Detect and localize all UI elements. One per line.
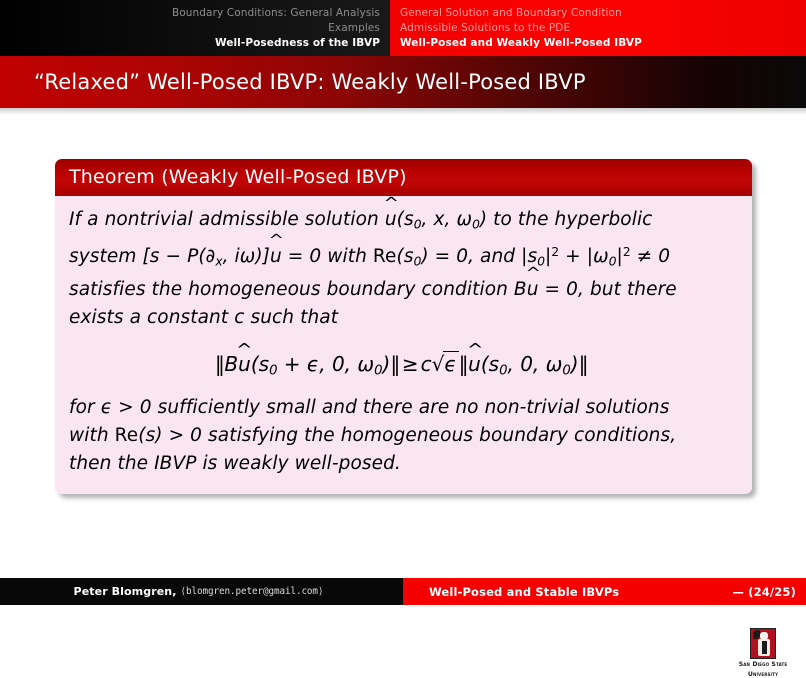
radicand-epsilon: ϵ bbox=[443, 351, 458, 376]
theorem-text-fragment: ) = 0, and | bbox=[421, 246, 527, 267]
theorem-text-fragment: (s) > 0 satisfying the homogeneous bound… bbox=[138, 425, 676, 446]
theorem-line-7: then the IBVP is weakly well-posed. bbox=[69, 450, 734, 478]
s-symbol: s bbox=[404, 246, 414, 267]
nav-section-well-posedness-of-the-ibvp[interactable]: Well-Posedness of the IBVP bbox=[215, 36, 380, 51]
aztec-body-accent-shape bbox=[762, 641, 767, 654]
sdsu-aztec-emblem-icon bbox=[750, 628, 776, 659]
aztec-head-shape bbox=[760, 632, 768, 639]
omega-subscript: 0 bbox=[472, 217, 480, 231]
theorem-text-fragment: = 0 with bbox=[282, 246, 373, 267]
omega-subscript: 0 bbox=[562, 363, 570, 378]
footer-author-email[interactable]: ⟨blomgren.peter@gmail.com⟩ bbox=[177, 586, 324, 597]
theorem-text-fragment: , x, bbox=[422, 209, 457, 230]
footer-author-name: Peter Blomgren, bbox=[74, 585, 177, 598]
equation-fragment: , 0, bbox=[507, 352, 545, 376]
theorem-block: Theorem (Weakly Well-Posed IBVP) If a no… bbox=[55, 159, 752, 494]
theorem-text-fragment: ≠ 0 bbox=[631, 246, 670, 267]
nav-subsection-admissible-solutions[interactable]: Admissible Solutions to the PDE bbox=[400, 21, 570, 36]
footer-subject-block: Well-Posed and Stable IBVPs — (24/25) bbox=[403, 578, 806, 605]
aztec-headdress-shape bbox=[753, 630, 760, 639]
norm-bar-open: ‖ bbox=[215, 352, 225, 376]
theorem-text-fragment: satisfies the homogeneous boundary condi… bbox=[69, 279, 527, 300]
u-hat-symbol: u bbox=[527, 276, 539, 304]
theorem-line-1: If a nontrivial admissible solution u(s0… bbox=[69, 206, 734, 238]
sdsu-logo-line-1: San Diego State bbox=[735, 661, 791, 669]
s-symbol: s bbox=[259, 352, 269, 376]
theorem-line-6: with Re(s) > 0 satisfying the homogeneou… bbox=[69, 422, 734, 450]
header-nav-subsections: General Solution and Boundary Condition … bbox=[390, 0, 806, 56]
norm-bar-close: ‖ bbox=[390, 352, 400, 376]
u-hat-symbol: u bbox=[270, 243, 282, 271]
footer-subject-title: Well-Posed and Stable IBVPs bbox=[429, 585, 619, 599]
omega-symbol: ω bbox=[456, 209, 472, 230]
footer-author-block: Peter Blomgren, ⟨blomgren.peter@gmail.co… bbox=[0, 578, 403, 605]
theorem-block-body: If a nontrivial admissible solution u(s0… bbox=[55, 196, 752, 494]
footer-page-number: — (24/25) bbox=[732, 585, 796, 599]
theorem-text-fragment: ) to the hyperbolic bbox=[480, 209, 653, 230]
theorem-text-fragment: ( bbox=[397, 209, 404, 230]
partial-x-subscript: x bbox=[215, 255, 222, 269]
slide-content-area: Theorem (Weakly Well-Posed IBVP) If a no… bbox=[0, 115, 806, 578]
theorem-text-fragment: , iω)] bbox=[223, 246, 270, 267]
title-bar-shadow bbox=[0, 108, 806, 115]
theorem-line-5: for ϵ > 0 sufficiently small and there a… bbox=[69, 394, 734, 422]
square-root-expression: √ϵ bbox=[432, 352, 459, 376]
theorem-text-fragment: If a nontrivial admissible solution bbox=[69, 209, 385, 230]
nav-subsection-well-posed-and-weakly-well-posed-ibvp[interactable]: Well-Posed and Weakly Well-Posed IBVP bbox=[400, 36, 642, 51]
sdsu-logo: San Diego State University bbox=[735, 628, 791, 678]
theorem-line-2: system [s − P(∂x, iω)]u = 0 with Re(s0) … bbox=[69, 238, 734, 275]
u-hat-symbol: u bbox=[385, 206, 397, 234]
greater-equal-operator: ≥ bbox=[400, 352, 421, 376]
nav-subsection-general-solution[interactable]: General Solution and Boundary Condition bbox=[400, 6, 622, 21]
omega-symbol: ω bbox=[546, 352, 563, 376]
constant-c: c bbox=[421, 352, 432, 376]
theorem-text-fragment: = 0, but there bbox=[539, 279, 677, 300]
omega-subscript: 0 bbox=[374, 363, 382, 378]
s-symbol: s bbox=[489, 352, 499, 376]
theorem-text-fragment: with bbox=[69, 425, 115, 446]
omega-symbol: ω bbox=[593, 246, 609, 267]
re-operator: Re bbox=[373, 246, 397, 267]
theorem-text-fragment: ( bbox=[396, 246, 403, 267]
u-hat-symbol: u bbox=[238, 352, 251, 376]
equation-fragment: + ϵ, 0, bbox=[277, 352, 357, 376]
slide-header-navigation: Boundary Conditions: General Analysis Ex… bbox=[0, 0, 806, 56]
s-subscript: 0 bbox=[414, 217, 422, 231]
theorem-line-4: exists a constant c such that bbox=[69, 304, 734, 332]
slide-title: “Relaxed” Well-Posed IBVP: Weakly Well-P… bbox=[0, 70, 586, 94]
nav-section-boundary-conditions[interactable]: Boundary Conditions: General Analysis bbox=[172, 6, 380, 21]
slide-footer: Peter Blomgren, ⟨blomgren.peter@gmail.co… bbox=[0, 578, 806, 605]
slide-title-bar: “Relaxed” Well-Posed IBVP: Weakly Well-P… bbox=[0, 56, 806, 108]
theorem-text-fragment: + | bbox=[559, 246, 593, 267]
exponent-two: 2 bbox=[623, 245, 631, 259]
re-operator: Re bbox=[115, 425, 139, 446]
equation-fragment: ) bbox=[571, 352, 579, 376]
s-symbol: s bbox=[404, 209, 414, 230]
theorem-display-equation: ‖Bu(s0 + ϵ, 0, ω0)‖≥c√ϵ‖u(s0, 0, ω0)‖ bbox=[69, 332, 734, 395]
theorem-line-3: satisfies the homogeneous boundary condi… bbox=[69, 276, 734, 304]
theorem-text-fragment: system [s − P(∂ bbox=[69, 246, 215, 267]
nav-section-examples[interactable]: Examples bbox=[328, 21, 380, 36]
u-hat-symbol: u bbox=[468, 352, 481, 376]
sdsu-logo-line-2: University bbox=[735, 671, 791, 678]
header-nav-sections: Boundary Conditions: General Analysis Ex… bbox=[0, 0, 390, 56]
norm-bar-close: ‖ bbox=[579, 352, 589, 376]
omega-symbol: ω bbox=[357, 352, 374, 376]
theorem-block-heading: Theorem (Weakly Well-Posed IBVP) bbox=[55, 159, 752, 196]
